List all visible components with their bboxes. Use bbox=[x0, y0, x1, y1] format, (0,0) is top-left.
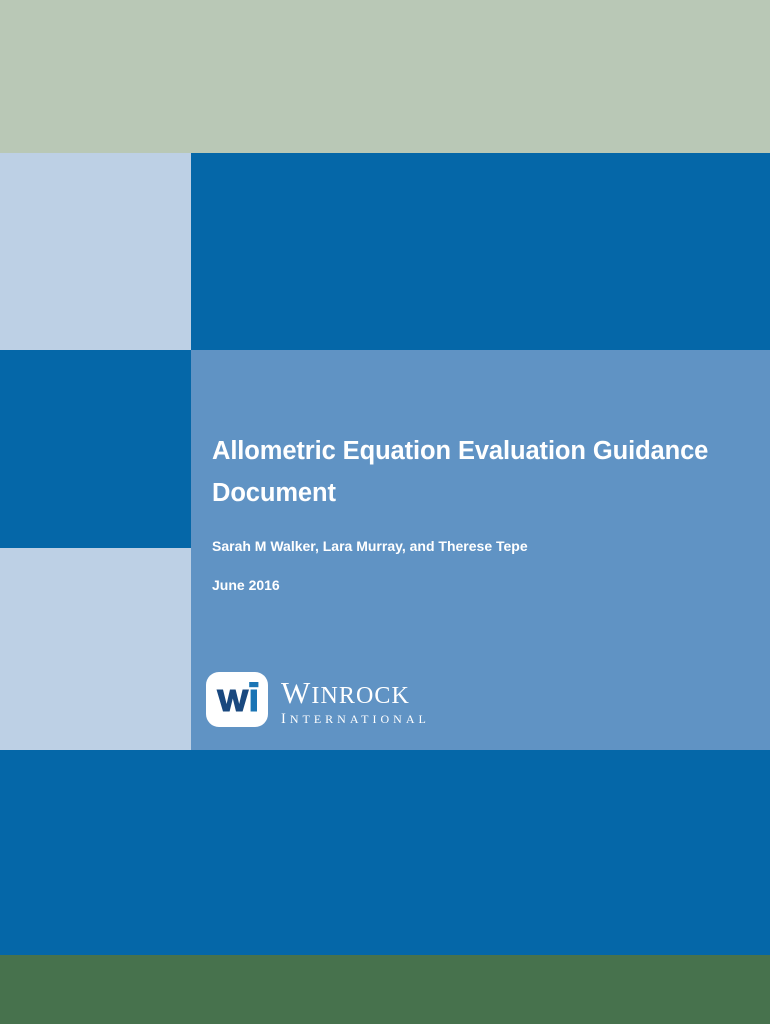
wordmark-international-initial: I bbox=[281, 711, 290, 727]
winrock-wordmark: WINROCK INTERNATIONAL bbox=[281, 673, 430, 727]
cover-text-group: Allometric Equation Evaluation Guidance … bbox=[212, 430, 752, 595]
decorative-block-strong-blue-upper-right bbox=[191, 153, 770, 350]
wordmark-international: INTERNATIONAL bbox=[281, 712, 430, 727]
decorative-block-light-blue-lower-left bbox=[0, 548, 191, 750]
document-date: June 2016 bbox=[212, 575, 752, 595]
wordmark-winrock-initial: W bbox=[281, 675, 311, 710]
decorative-block-light-blue-upper-left bbox=[0, 153, 191, 350]
document-title: Allometric Equation Evaluation Guidance … bbox=[212, 430, 737, 514]
wordmark-winrock: WINROCK bbox=[281, 677, 430, 708]
wi-monogram-icon bbox=[206, 672, 268, 727]
wordmark-winrock-rest: INROCK bbox=[311, 683, 410, 709]
wordmark-international-rest: NTERNATIONAL bbox=[290, 712, 430, 726]
document-cover-page: Allometric Equation Evaluation Guidance … bbox=[0, 0, 770, 1024]
decorative-block-strong-blue-mid-left bbox=[0, 350, 191, 548]
decorative-band-strong-blue-bottom bbox=[0, 750, 770, 955]
winrock-international-logo: WINROCK INTERNATIONAL bbox=[206, 672, 430, 727]
decorative-band-dark-green-bottom bbox=[0, 955, 770, 1024]
decorative-band-sage-top bbox=[0, 0, 770, 153]
document-authors: Sarah M Walker, Lara Murray, and Therese… bbox=[212, 536, 752, 556]
winrock-logo-mark bbox=[206, 672, 268, 727]
